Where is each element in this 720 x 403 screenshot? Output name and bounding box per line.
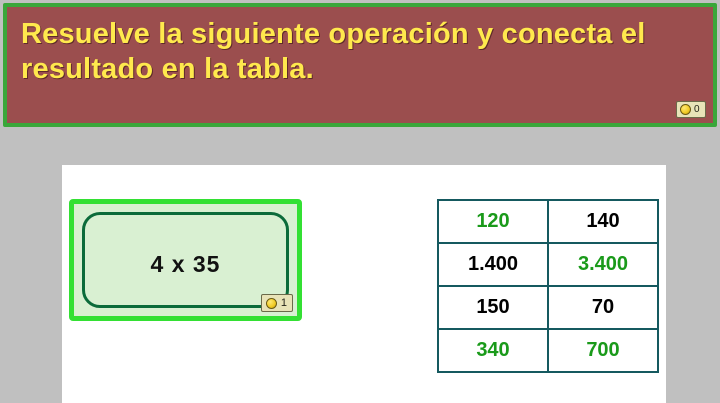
answer-cell[interactable]: 1.400 (438, 243, 548, 286)
header-score-value: 0 (694, 105, 700, 115)
coin-icon (266, 298, 277, 309)
operation-score-badge: 1 (261, 294, 293, 312)
operation-card[interactable]: 4 x 35 1 (69, 199, 302, 321)
header-score-badge: 0 (676, 101, 706, 118)
table-row: 150 70 (438, 286, 658, 329)
table-row: 120 140 (438, 200, 658, 243)
answer-cell[interactable]: 3.400 (548, 243, 658, 286)
operation-score-value: 1 (281, 298, 287, 309)
table-row: 340 700 (438, 329, 658, 372)
banner-background: Resuelve la siguiente operación y conect… (7, 7, 713, 123)
operation-card-inner: 4 x 35 (82, 212, 289, 308)
answer-cell[interactable]: 150 (438, 286, 548, 329)
worksheet-area: 4 x 35 1 120 140 1.400 3.400 (62, 165, 666, 403)
table-row: 1.400 3.400 (438, 243, 658, 286)
answer-cell[interactable]: 700 (548, 329, 658, 372)
instruction-banner: Resuelve la siguiente operación y conect… (3, 3, 717, 127)
activity-screen: Resuelve la siguiente operación y conect… (0, 0, 720, 403)
answer-cell[interactable]: 140 (548, 200, 658, 243)
operation-expression: 4 x 35 (85, 251, 286, 278)
answer-cell[interactable]: 70 (548, 286, 658, 329)
instruction-text: Resuelve la siguiente operación y conect… (21, 17, 699, 88)
coin-icon (680, 104, 691, 115)
answer-table: 120 140 1.400 3.400 150 70 340 700 (437, 199, 659, 364)
answer-cell[interactable]: 120 (438, 200, 548, 243)
answer-cell[interactable]: 340 (438, 329, 548, 372)
